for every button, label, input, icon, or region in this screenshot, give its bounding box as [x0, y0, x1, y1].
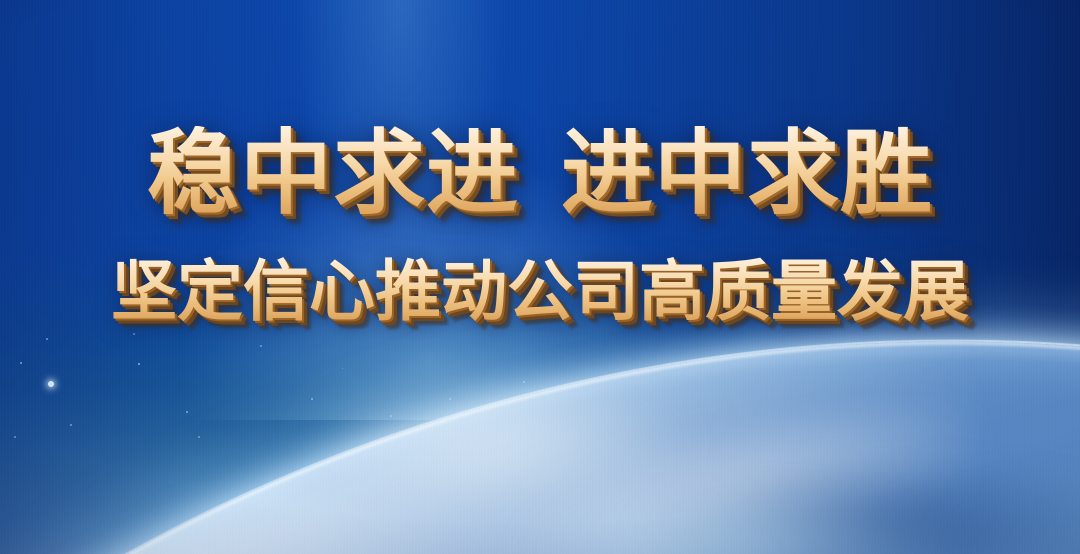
jpeg-texture-overlay	[0, 0, 1080, 554]
banner-canvas: 稳中求进进中求胜 坚定信心推动公司高质量发展	[0, 0, 1080, 554]
